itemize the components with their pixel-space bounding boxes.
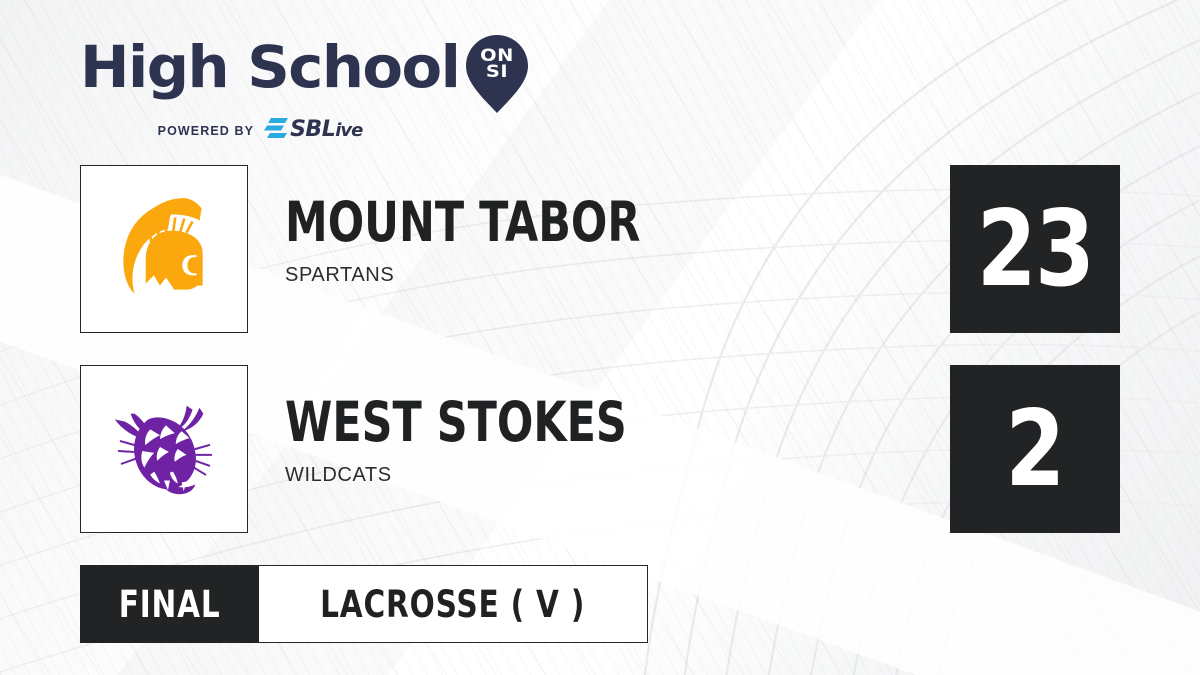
team-score-box: 2	[950, 365, 1120, 533]
brand-logo: High School ON SI POWERED BY	[80, 38, 510, 143]
team-mascot: SPARTANS	[285, 264, 741, 287]
team-score: 2	[1006, 397, 1064, 502]
on-si-pin-icon: ON SI	[466, 35, 528, 113]
sblive-word-tail: ive	[335, 120, 362, 141]
scoreboard-graphic: High School ON SI POWERED BY	[0, 0, 1200, 675]
powered-by-label: POWERED BY	[158, 124, 254, 138]
spartan-helmet-icon	[103, 188, 225, 310]
sblive-word-main: SBL	[290, 117, 335, 142]
brand-title-row: High School ON SI	[80, 38, 510, 113]
sport-label-box: LACROSSE ( V )	[259, 565, 647, 643]
team-row: MOUNT TABOR SPARTANS 23	[0, 165, 1200, 335]
team-info: WEST STOKES WILDCATS	[285, 395, 723, 487]
wildcat-head-icon	[105, 390, 223, 508]
status-badge: FINAL	[80, 565, 259, 643]
team-name: MOUNT TABOR	[285, 195, 640, 250]
powered-by-row: POWERED BY SBLive	[80, 118, 440, 143]
status-state-label: FINAL	[119, 586, 221, 623]
game-status-bar: FINAL LACROSSE ( V )	[80, 565, 648, 643]
brand-title: High School	[80, 38, 459, 96]
team-logo-box	[80, 365, 248, 533]
team-name: WEST STOKES	[285, 395, 627, 450]
team-score: 23	[977, 197, 1094, 302]
on-si-pin-label: ON SI	[462, 48, 533, 80]
team-score-box: 23	[950, 165, 1120, 333]
team-row: WEST STOKES WILDCATS 2	[0, 365, 1200, 535]
team-mascot: WILDCATS	[285, 464, 723, 487]
sblive-wordmark: SBLive	[290, 119, 362, 142]
pin-line-si: SI	[462, 64, 533, 80]
sport-label: LACROSSE ( V )	[320, 586, 585, 623]
team-info: MOUNT TABOR SPARTANS	[285, 195, 741, 287]
sblive-logo: SBLive	[264, 118, 362, 143]
team-logo-box	[80, 165, 248, 333]
sblive-s-icon	[264, 118, 288, 143]
